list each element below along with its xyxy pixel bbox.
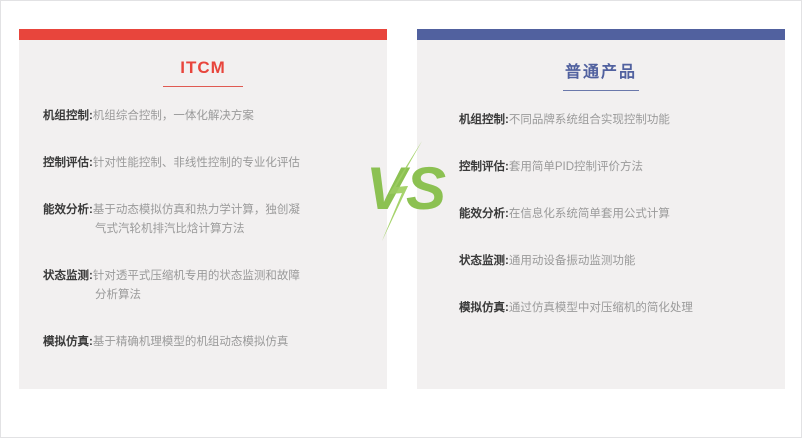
feature-list-left: 机组控制:机组综合控制，一体化解决方案 控制评估:针对性能控制、非线性控制的专业… <box>19 93 387 389</box>
item-value-line2: 分析算法 <box>43 286 373 305</box>
item-value: 通用动设备振动监测功能 <box>509 255 636 267</box>
list-item: 模拟仿真:通过仿真模型中对压缩机的简化处理 <box>459 299 771 318</box>
item-label: 控制评估: <box>459 161 509 173</box>
item-label: 机组控制: <box>43 110 93 122</box>
item-value: 套用简单PID控制评价方法 <box>509 161 643 173</box>
feature-list-right: 机组控制:不同品牌系统组合实现控制功能 控制评估:套用简单PID控制评价方法 能… <box>417 97 785 389</box>
panel-title-itcm: ITCM <box>180 58 226 86</box>
item-label: 能效分析: <box>459 208 509 220</box>
item-label: 模拟仿真: <box>43 336 93 348</box>
item-value-line2: 气式汽轮机排汽比焓计算方法 <box>43 220 373 239</box>
panel-accent-bar-right <box>417 29 785 40</box>
item-value: 不同品牌系统组合实现控制功能 <box>509 114 670 126</box>
panel-title-wrap-right: 普通产品 <box>417 40 785 97</box>
panel-title-wrap-left: ITCM <box>19 40 387 93</box>
center-gutter <box>387 29 417 389</box>
item-label: 状态监测: <box>459 255 509 267</box>
item-value: 基于动态模拟仿真和热力学计算，独创凝 <box>93 204 300 216</box>
list-item: 机组控制:不同品牌系统组合实现控制功能 <box>459 111 771 130</box>
item-value: 针对性能控制、非线性控制的专业化评估 <box>93 157 300 169</box>
item-value: 机组综合控制，一体化解决方案 <box>93 110 254 122</box>
list-item: 模拟仿真:基于精确机理模型的机组动态模拟仿真 <box>43 333 373 352</box>
item-label: 状态监测: <box>43 270 93 282</box>
comparison-infographic: ITCM 机组控制:机组综合控制，一体化解决方案 控制评估:针对性能控制、非线性… <box>0 0 802 438</box>
list-item: 状态监测:针对透平式压缩机专用的状态监测和故障 分析算法 <box>43 267 373 305</box>
list-item: 能效分析:基于动态模拟仿真和热力学计算，独创凝 气式汽轮机排汽比焓计算方法 <box>43 201 373 239</box>
list-item: 状态监测:通用动设备振动监测功能 <box>459 252 771 271</box>
title-underline-left <box>163 86 243 87</box>
item-value: 在信息化系统简单套用公式计算 <box>509 208 670 220</box>
list-item: 能效分析:在信息化系统简单套用公式计算 <box>459 205 771 224</box>
item-label: 模拟仿真: <box>459 302 509 314</box>
item-label: 机组控制: <box>459 114 509 126</box>
list-item: 控制评估:套用简单PID控制评价方法 <box>459 158 771 177</box>
panel-ordinary-product: 普通产品 机组控制:不同品牌系统组合实现控制功能 控制评估:套用简单PID控制评… <box>417 29 785 389</box>
item-label: 控制评估: <box>43 157 93 169</box>
item-label: 能效分析: <box>43 204 93 216</box>
item-value: 通过仿真模型中对压缩机的简化处理 <box>509 302 693 314</box>
panel-itcm: ITCM 机组控制:机组综合控制，一体化解决方案 控制评估:针对性能控制、非线性… <box>19 29 387 389</box>
list-item: 控制评估:针对性能控制、非线性控制的专业化评估 <box>43 154 373 173</box>
panel-title-ordinary: 普通产品 <box>565 58 637 90</box>
panel-accent-bar-left <box>19 29 387 40</box>
title-underline-right <box>563 90 639 91</box>
list-item: 机组控制:机组综合控制，一体化解决方案 <box>43 107 373 126</box>
item-value: 基于精确机理模型的机组动态模拟仿真 <box>93 336 289 348</box>
item-value: 针对透平式压缩机专用的状态监测和故障 <box>93 270 300 282</box>
